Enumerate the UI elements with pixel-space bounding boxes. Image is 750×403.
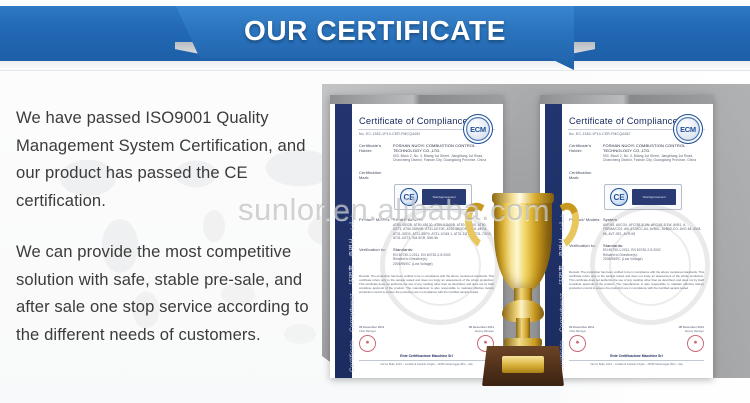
trophy-stem xyxy=(516,318,530,340)
holder-label: Certificate's Holder: xyxy=(359,143,393,163)
holder-label: Certificate's Holder: xyxy=(569,143,603,163)
trophy-icon xyxy=(452,196,592,403)
signature-right-label: Deputy Manager xyxy=(685,330,704,333)
holder-name: FOSHAN NUOYI COMBUSTION CONTROL TECHNOLO… xyxy=(603,143,704,154)
product-label: Product/ Models: xyxy=(359,217,393,240)
trophy-cup xyxy=(494,196,552,292)
holder-value: FOSHAN NUOYI COMBUSTION CONTROL TECHNOLO… xyxy=(393,143,499,163)
stamp-left-icon: ✹ xyxy=(359,335,376,352)
banner-hairline xyxy=(0,70,750,71)
holder-value: FOSHAN NUOYI COMBUSTION CONTROL TECHNOLO… xyxy=(603,143,709,163)
trophy-plaque xyxy=(502,356,544,373)
approval-badge: Total Approvement xyxy=(632,189,676,205)
issue-date: 09 December 2011 xyxy=(359,325,384,329)
certificate-side-strip: Certificate – Сертификат – 证明書 – 증명서 – ش… xyxy=(335,104,352,378)
certificate-top-bar xyxy=(540,95,713,104)
page-title: OUR CERTIFICATE xyxy=(244,15,506,47)
certificate-section: OUR CERTIFICATE We have passed ISO9001 Q… xyxy=(0,0,750,403)
signature-left-label: Chief Manager xyxy=(359,330,376,333)
trophy-base-top xyxy=(504,338,542,347)
intro-paragraph-1: We have passed ISO9001 Quality Managemen… xyxy=(16,104,321,214)
mark-row: Certification Mark: xyxy=(569,170,709,181)
trophy-rim xyxy=(492,193,554,203)
mark-label: Certification Mark: xyxy=(359,170,393,181)
holder-row: Certificate's Holder: FOSHAN NUOYI COMBU… xyxy=(569,143,709,163)
verification-value: Standards: EN 60730-1:2011, EN 60730-2-5… xyxy=(603,243,709,262)
mark-row: Certification Mark: xyxy=(359,170,499,181)
banner: OUR CERTIFICATE xyxy=(0,0,750,72)
certification-mark-box: CE Total Approvement xyxy=(604,184,682,210)
intro-text-column: We have passed ISO9001 Quality Managemen… xyxy=(16,104,321,348)
product-value: System AVF-65, AVCO4, AFC/38-5/1W, AFG/4… xyxy=(603,217,709,236)
product-models: AVF-65, AVCO4, AFC/38-5/1W, AFG/49-5/1W,… xyxy=(603,223,704,236)
stamp-right-icon: ✹ xyxy=(687,335,704,352)
ce-mark-icon: CE xyxy=(610,188,628,206)
expiry-date: 08 December 2011 xyxy=(679,325,704,329)
holder-row: Certificate's Holder: FOSHAN NUOYI COMBU… xyxy=(359,143,499,163)
verification-label: Verification to: xyxy=(359,247,393,266)
holder-address: 503, Block 2, No. 3, Bitang 1st Street, … xyxy=(393,154,494,163)
holder-address: 503, Block 2, No. 3, Bitang 1st Street, … xyxy=(603,154,704,163)
certificate-top-bar xyxy=(330,95,503,104)
directive-value: 2006/95/EC (Low Voltage) xyxy=(603,257,704,261)
mark-label: Certification Mark: xyxy=(569,170,603,181)
ecm-seal-icon: ECM xyxy=(463,114,493,144)
ecm-seal-icon: ECM xyxy=(673,114,703,144)
ce-mark-icon: CE xyxy=(400,188,418,206)
intro-paragraph-2: We can provide the most competitive solu… xyxy=(16,238,321,348)
holder-name: FOSHAN NUOYI COMBUSTION CONTROL TECHNOLO… xyxy=(393,143,494,154)
